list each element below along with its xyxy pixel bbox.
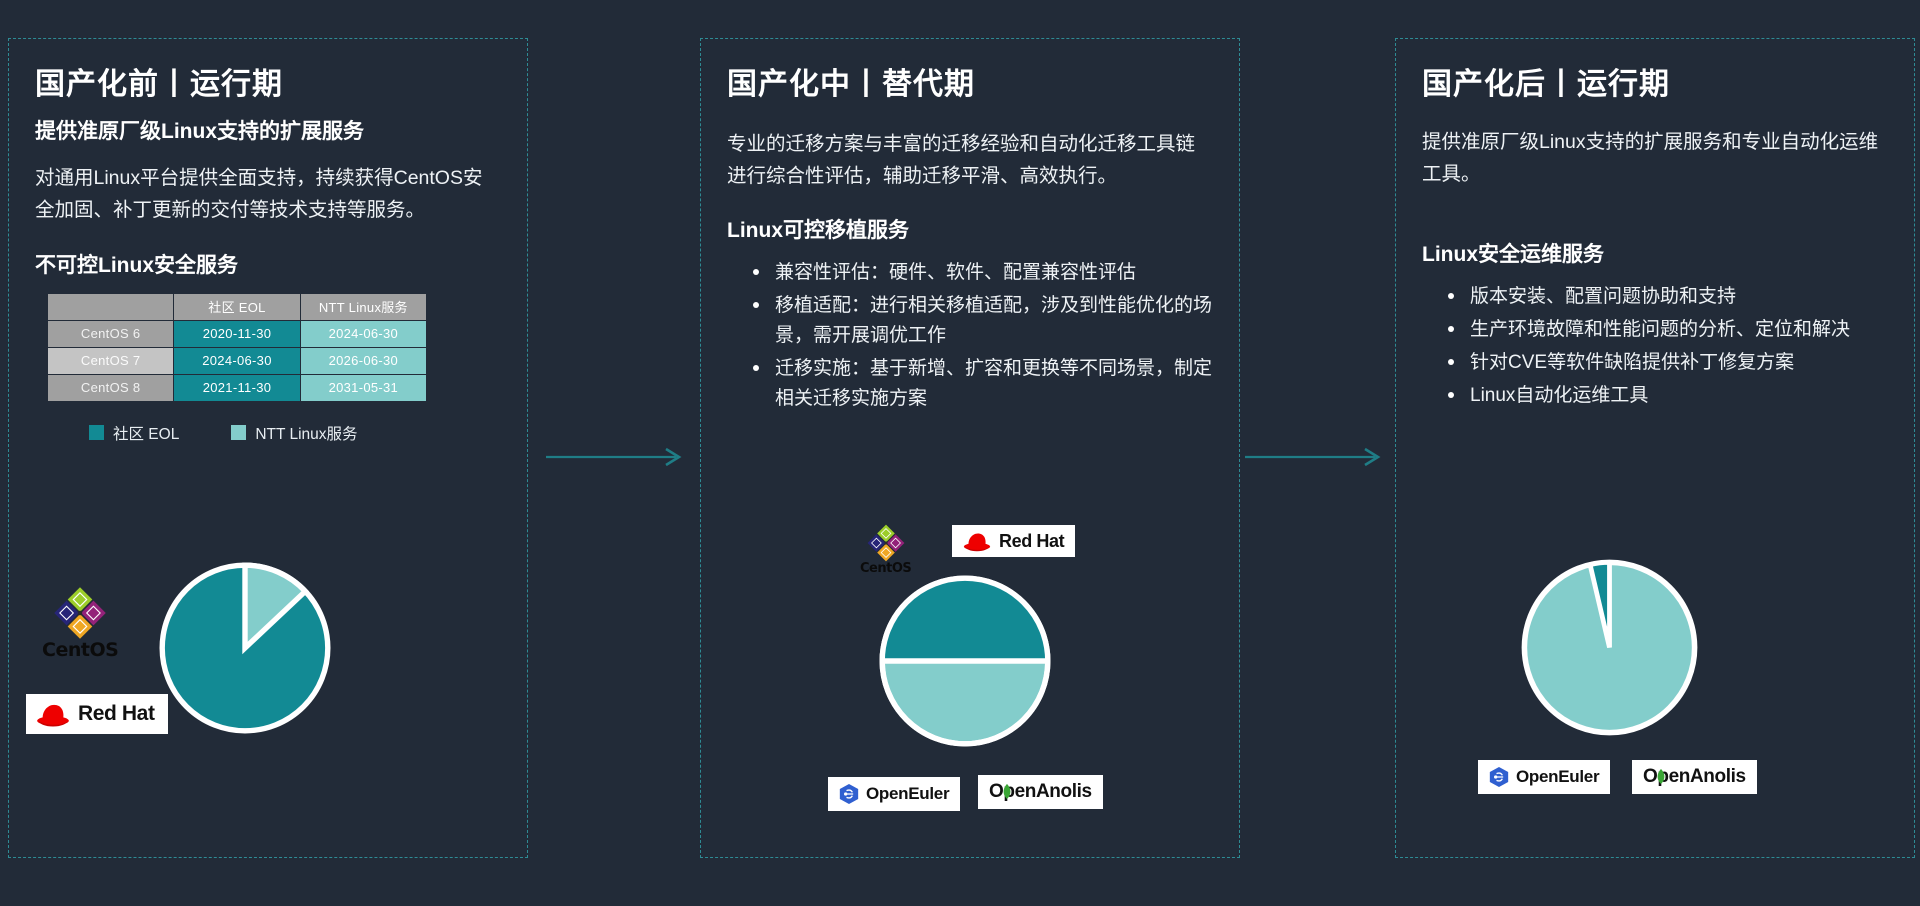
table-header-ntt: NTT Linux服务 bbox=[300, 293, 426, 320]
table-row: CentOS 7 2024-06-30 2026-06-30 bbox=[48, 347, 427, 374]
table-cell-eol: 2021-11-30 bbox=[174, 374, 300, 401]
arrow-right-icon bbox=[546, 445, 686, 469]
pie-chart-before bbox=[155, 558, 335, 743]
panel-before-title: 国产化前丨运行期 bbox=[35, 67, 501, 103]
list-item: 版本安装、配置问题协助和支持 bbox=[1448, 282, 1888, 312]
panel-during-description: 专业的迁移方案与丰富的迁移经验和自动化迁移工具链进行综合性评估，辅助迁移平滑、高… bbox=[727, 129, 1213, 192]
panel-after-bullet-list: 版本安装、配置问题协助和支持 生产环境故障和性能问题的分析、定位和解决 针对CV… bbox=[1422, 282, 1888, 411]
list-item: 针对CVE等软件缺陷提供补丁修复方案 bbox=[1448, 348, 1888, 378]
table-row: CentOS 6 2020-11-30 2024-06-30 bbox=[48, 320, 427, 347]
table-cell-os: CentOS 8 bbox=[48, 374, 174, 401]
centos-logo-label: CentOS bbox=[42, 639, 118, 661]
table-cell-os: CentOS 7 bbox=[48, 347, 174, 374]
table-header-row: 社区 EOL NTT Linux服务 bbox=[48, 293, 427, 320]
panel-during-bullet-list: 兼容性评估：硬件、软件、配置兼容性评估 移植适配：进行相关移植适配，涉及到性能优… bbox=[727, 258, 1213, 414]
openeuler-logo-label: OpenEuler bbox=[866, 784, 949, 804]
table-header-blank bbox=[48, 293, 174, 320]
panel-before-subtitle: 提供准原厂级Linux支持的扩展服务 bbox=[35, 117, 501, 147]
list-item: 迁移实施：基于新增、扩容和更换等不同场景，制定相关迁移实施方案 bbox=[753, 354, 1213, 414]
panel-before-section-heading: 不可控Linux安全服务 bbox=[35, 249, 501, 279]
legend-swatch-icon bbox=[231, 425, 246, 440]
redhat-logo-label: Red Hat bbox=[78, 702, 155, 726]
legend-label-ntt: NTT Linux服务 bbox=[255, 422, 357, 444]
table-cell-eol: 2024-06-30 bbox=[174, 347, 300, 374]
legend-item-ntt: NTT Linux服务 bbox=[231, 422, 357, 444]
panel-after-section-heading: Linux安全运维服务 bbox=[1422, 238, 1888, 268]
openeuler-logo: OpenEuler bbox=[1478, 760, 1610, 794]
table-cell-ntt: 2026-06-30 bbox=[300, 347, 426, 374]
table-header-eol: 社区 EOL bbox=[174, 293, 300, 320]
pie-before-svg bbox=[155, 558, 335, 738]
legend-label-eol: 社区 EOL bbox=[113, 422, 179, 444]
legend-swatch-icon bbox=[89, 425, 104, 440]
centos-logo: CentOS bbox=[42, 585, 118, 661]
eol-table: 社区 EOL NTT Linux服务 CentOS 6 2020-11-30 2… bbox=[47, 293, 427, 402]
centos-logo: CentOS bbox=[860, 523, 911, 576]
openanolis-leaf-icon bbox=[1655, 768, 1668, 785]
openeuler-logo: OpenEuler bbox=[828, 777, 960, 811]
redhat-fedora-icon bbox=[963, 530, 991, 552]
panel-after-title: 国产化后丨运行期 bbox=[1422, 67, 1888, 103]
redhat-logo: Red Hat bbox=[26, 694, 168, 734]
redhat-logo: Red Hat bbox=[952, 525, 1075, 557]
openeuler-hexagon-icon bbox=[839, 783, 859, 805]
openeuler-logo-label: OpenEuler bbox=[1516, 767, 1599, 787]
panel-after-description: 提供准原厂级Linux支持的扩展服务和专业自动化运维工具。 bbox=[1422, 127, 1888, 190]
list-item: Linux自动化运维工具 bbox=[1448, 381, 1888, 411]
legend-item-eol: 社区 EOL bbox=[89, 422, 179, 444]
pie-chart-after bbox=[1517, 555, 1702, 745]
pie-chart-during bbox=[875, 571, 1055, 756]
openanolis-logo: OpenAnolis bbox=[978, 775, 1103, 809]
panel-before-description: 对通用Linux平台提供全面支持，持续获得CentOS安全加固、补丁更新的交付等… bbox=[35, 163, 501, 226]
list-item: 移植适配：进行相关移植适配，涉及到性能优化的场景，需开展调优工作 bbox=[753, 291, 1213, 351]
redhat-logo-label: Red Hat bbox=[999, 531, 1064, 552]
pie-after-svg bbox=[1517, 555, 1702, 740]
table-cell-os: CentOS 6 bbox=[48, 320, 174, 347]
arrow-right-icon bbox=[1245, 445, 1385, 469]
centos-icon bbox=[52, 585, 108, 641]
openeuler-hexagon-icon bbox=[1489, 766, 1509, 788]
openanolis-leaf-icon bbox=[1001, 783, 1014, 800]
eol-table-legend: 社区 EOL NTT Linux服务 bbox=[89, 422, 501, 444]
table-cell-ntt: 2031-05-31 bbox=[300, 374, 426, 401]
panel-during-section-heading: Linux可控移植服务 bbox=[727, 214, 1213, 244]
redhat-fedora-icon bbox=[36, 701, 70, 727]
list-item: 生产环境故障和性能问题的分析、定位和解决 bbox=[1448, 315, 1888, 345]
panel-during-title: 国产化中丨替代期 bbox=[727, 67, 1213, 103]
centos-icon bbox=[866, 523, 906, 563]
arrow-during-to-after bbox=[1245, 445, 1385, 469]
arrow-before-to-during bbox=[546, 445, 686, 469]
table-cell-ntt: 2024-06-30 bbox=[300, 320, 426, 347]
list-item: 兼容性评估：硬件、软件、配置兼容性评估 bbox=[753, 258, 1213, 288]
table-row: CentOS 8 2021-11-30 2031-05-31 bbox=[48, 374, 427, 401]
table-cell-eol: 2020-11-30 bbox=[174, 320, 300, 347]
openanolis-logo: OpenAnolis bbox=[1632, 760, 1757, 794]
pie-during-svg bbox=[875, 571, 1055, 751]
